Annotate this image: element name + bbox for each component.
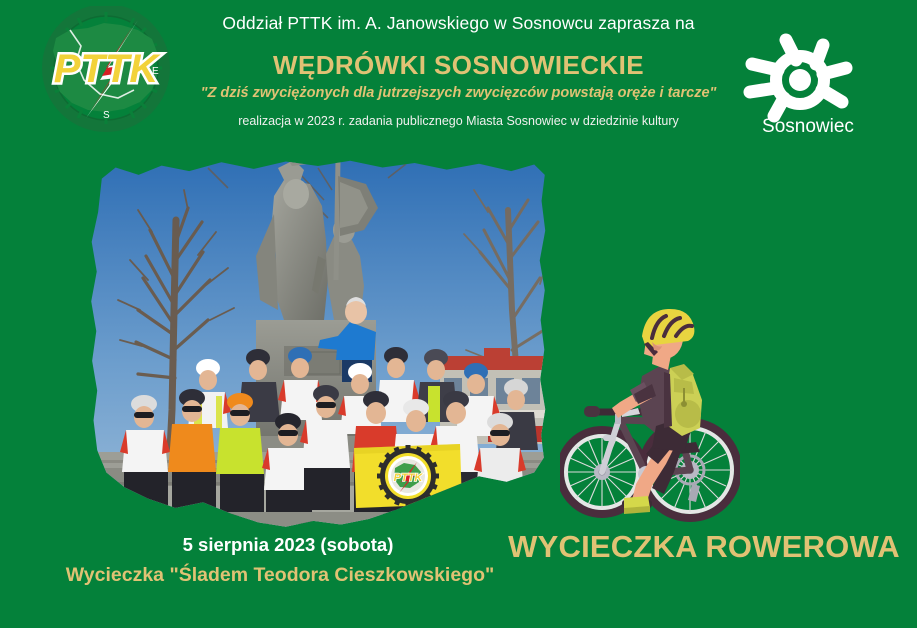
trip-name: Wycieczka "Śladem Teodora Cieszkowskiego… xyxy=(10,564,550,587)
sosnowiec-logo-graphic: Sosnowiec xyxy=(728,20,888,136)
photo-torn-edge-mask: PTTK xyxy=(88,160,548,532)
poster-canvas: W E S PTTK Oddział PTTK im. A. Janowskie… xyxy=(0,0,917,628)
cyclist-graphic xyxy=(560,302,740,530)
group-photo-image: PTTK xyxy=(88,160,548,532)
pttk-banner-in-photo: PTTK xyxy=(354,444,462,508)
group-photo: PTTK xyxy=(88,160,548,532)
sosnowiec-caption: Sosnowiec xyxy=(762,116,854,136)
sun-star-icon xyxy=(750,40,846,116)
bike-trip-headline: WYCIECZKA ROWEROWA xyxy=(504,529,904,565)
svg-text:PTTK: PTTK xyxy=(394,472,424,484)
sosnowiec-logo: Sosnowiec xyxy=(728,20,888,136)
cyclist-illustration xyxy=(560,302,740,530)
event-date: 5 sierpnia 2023 (sobota) xyxy=(118,534,458,556)
